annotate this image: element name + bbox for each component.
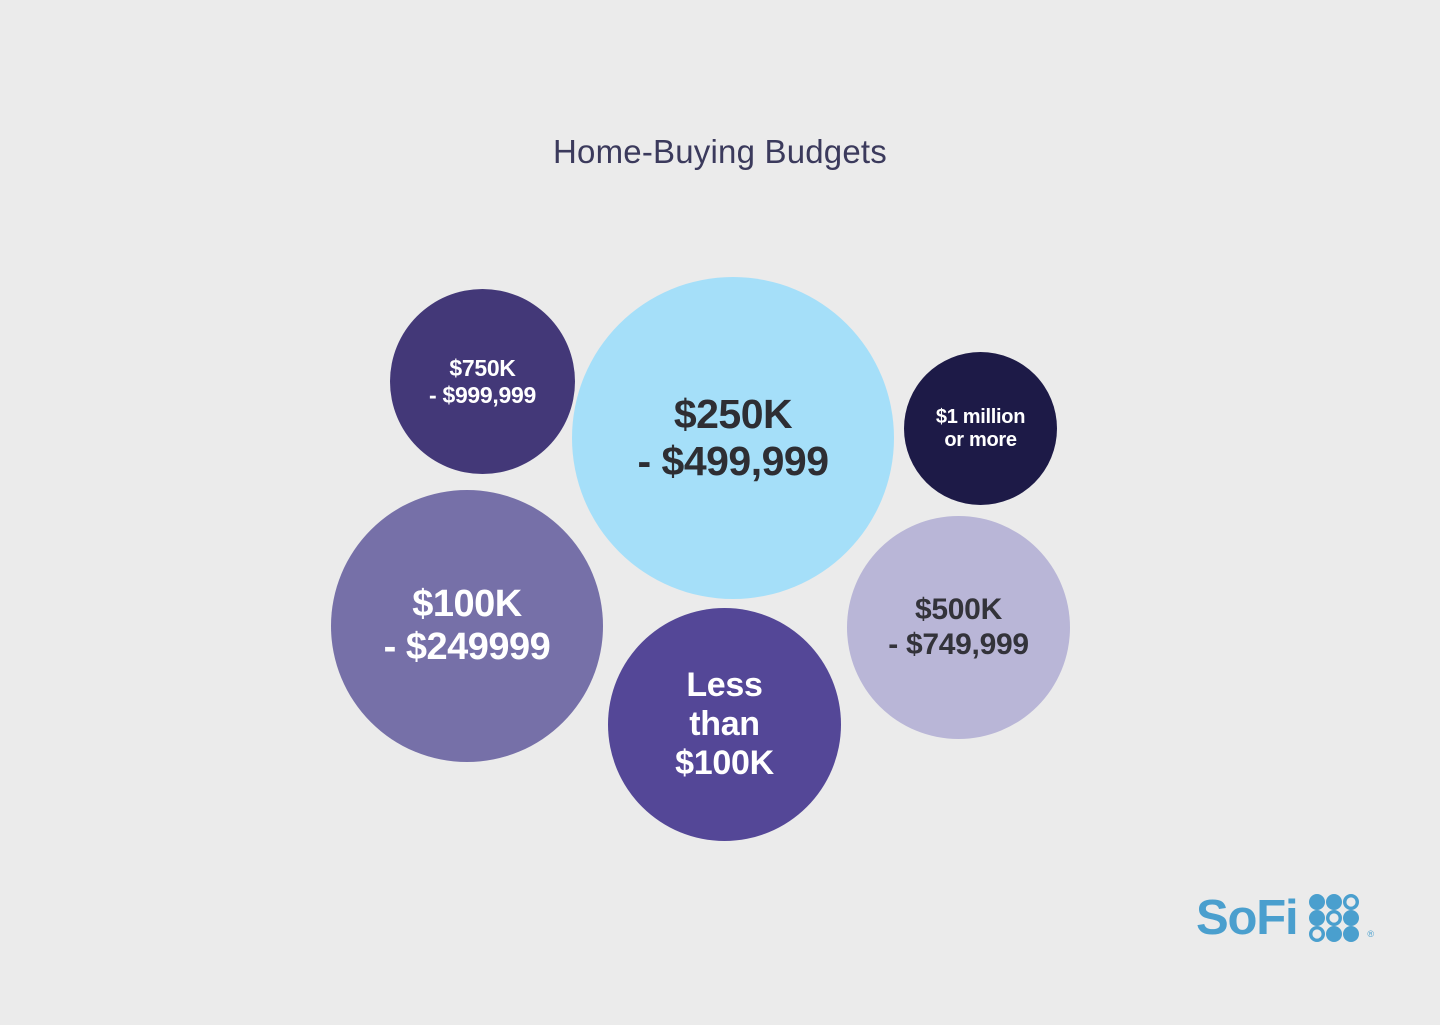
registered-trademark-mark: ® [1367,929,1374,939]
bubble-chart: $250K - $499,999 $100K - $249999 Less th… [0,0,1440,1025]
sofi-dot-grid-icon [1308,893,1360,943]
bubble-100k-249999[interactable]: $100K - $249999 [331,490,603,762]
bubble-250k-499999[interactable]: $250K - $499,999 [572,277,894,599]
bubble-500k-749999[interactable]: $500K - $749,999 [847,516,1070,739]
bubble-label: Less than $100K [669,666,780,782]
bubble-1-million-or-more[interactable]: $1 million or more [904,352,1057,505]
bubble-750k-999999[interactable]: $750K - $999,999 [390,289,575,474]
bubble-label: $500K - $749,999 [882,593,1034,661]
bubble-label: $750K - $999,999 [423,355,542,407]
sofi-logo: SoFi ® [1196,893,1374,943]
infographic-canvas: Home-Buying Budgets $250K - $499,999 $10… [0,0,1440,1025]
bubble-label: $100K - $249999 [378,583,557,670]
bubble-less-than-100k[interactable]: Less than $100K [608,608,841,841]
sofi-wordmark: SoFi [1196,894,1297,943]
bubble-label: $250K - $499,999 [631,391,834,484]
bubble-label: $1 million or more [930,406,1031,452]
